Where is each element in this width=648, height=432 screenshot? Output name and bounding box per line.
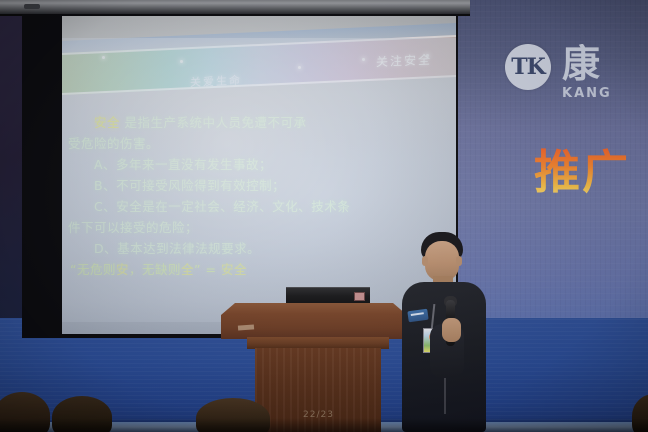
brand-name-chinese: 康 [562, 44, 648, 84]
conclusion-quote-close: ” [194, 262, 201, 277]
tk-logo-icon: TK [505, 44, 551, 90]
speaker-hand [442, 318, 461, 342]
conclusion-mid: ，无缺则 [129, 262, 181, 277]
slide-line-item-b: B、不可接受风险得到有效控制； [68, 175, 456, 196]
sparkle-icon [298, 66, 301, 69]
slide-line-text: 是指生产系统中人员免遭不可承 [125, 115, 307, 130]
conclusion-em-an: 安 [116, 262, 129, 277]
slide-line-item-c: C、安全是在一定社会、经济、文化、技术条 [68, 196, 456, 217]
conclusion-quote-open: “无危则 [70, 262, 116, 277]
speaker-ear-left [422, 256, 428, 266]
speaker-head [425, 241, 459, 281]
conclusion-equals: = [206, 262, 217, 277]
podium-top-surface [221, 303, 407, 339]
sparkle-icon [180, 60, 183, 63]
speaker-ear-right [456, 256, 462, 266]
presentation-photo-scene: 关注安全 关爱生命 安全 是指生产系统中人员免遭不可承 受危险的伤害。 A、多年… [0, 0, 648, 432]
slide-header-center-title: 关爱生命 [190, 72, 242, 90]
brand-name-latin: KANG [562, 86, 648, 101]
tk-logo-text: TK [511, 54, 545, 80]
podium-av-device [286, 287, 370, 304]
sparkle-icon [362, 58, 365, 61]
roller-knob [24, 4, 40, 9]
conclusion-result: 安全 [221, 262, 247, 277]
speaker-figure [396, 232, 500, 432]
device-indicator-light [354, 292, 365, 301]
slide-header-right-title: 关注安全 [376, 51, 432, 71]
sparkle-icon [102, 56, 105, 59]
slide-line-item-a: A、多年来一直没有发生事故； [68, 154, 456, 175]
slide-line-definition: 安全 是指生产系统中人员免遭不可承 [68, 112, 456, 133]
conclusion-em-quan: 全 [181, 262, 194, 277]
foreground-shadow [0, 418, 648, 432]
banner-promo-headline: 推广 [534, 146, 648, 198]
slide-keyword-safety: 安全 [94, 115, 120, 130]
slide-line-definition-cont: 受危险的伤害。 [68, 133, 456, 154]
